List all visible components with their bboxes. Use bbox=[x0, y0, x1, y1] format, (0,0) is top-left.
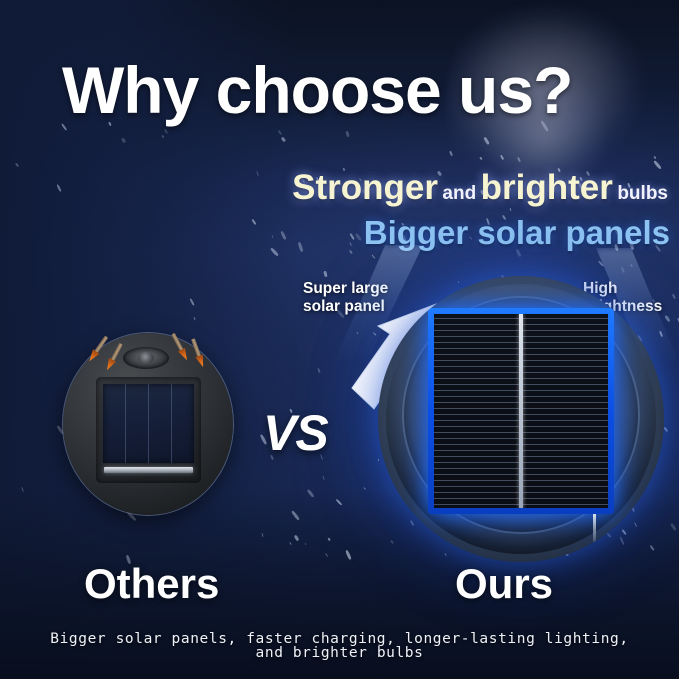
footer-caption: Bigger solar panels, faster charging, lo… bbox=[0, 632, 679, 660]
others-sensor-lens bbox=[123, 347, 169, 369]
label-others: Others bbox=[84, 560, 219, 608]
subtitle-stronger: Stronger bbox=[292, 168, 438, 207]
ours-solar-panel bbox=[434, 314, 608, 508]
subtitle-bulbs: bulbs bbox=[617, 183, 668, 204]
label-ours: Ours bbox=[455, 560, 553, 608]
ours-busbar bbox=[519, 314, 523, 508]
others-solar-panel bbox=[103, 384, 194, 463]
subtitle-brighter: brighter bbox=[481, 168, 613, 207]
subtitle-and: and bbox=[442, 183, 476, 204]
footer-caption-line1: Bigger solar panels, faster charging, lo… bbox=[0, 632, 679, 646]
footer-caption-line2: and brighter bulbs bbox=[0, 646, 679, 660]
page-title: Why choose us? bbox=[62, 52, 572, 128]
promo-image: Why choose us? Stronger and brighter bul… bbox=[0, 0, 679, 679]
ours-panel-glow-frame bbox=[428, 308, 614, 514]
subtitle-line-1: Stronger and brighter bulbs bbox=[0, 168, 668, 208]
others-light-bar bbox=[104, 467, 193, 473]
vs-label: VS bbox=[263, 404, 328, 462]
others-panel-frame bbox=[96, 377, 201, 483]
ours-busbar-tail bbox=[593, 514, 596, 542]
subtitle-line-2: Bigger solar panels bbox=[0, 214, 670, 252]
product-ours bbox=[378, 276, 664, 562]
